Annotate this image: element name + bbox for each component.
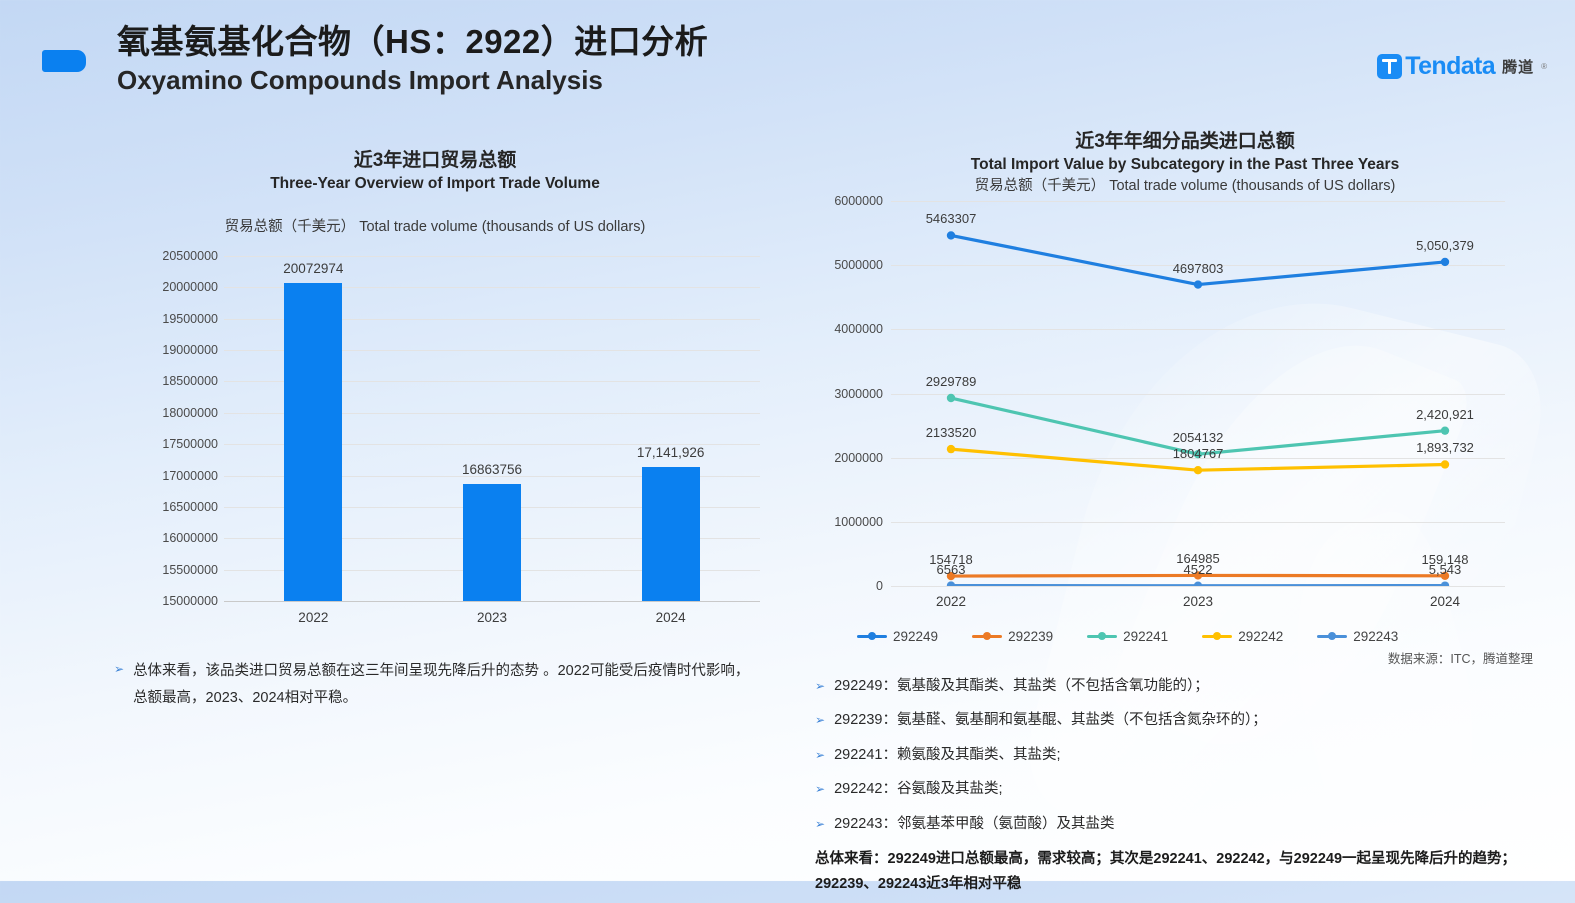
- page-title-cn: 氧基氨基化合物（HS：2922）进口分析: [117, 22, 708, 62]
- bar-y-tick-label: 15500000: [162, 563, 218, 577]
- bar-chart-plot-area: 20072974202216863756202317,141,9262024: [224, 256, 760, 616]
- left-chart-note: ➢ 总体来看，该品类进口贸易总额在这三年间呈现先降后升的态势 。2022可能受后…: [110, 658, 760, 712]
- line-x-tick-label: 2022: [936, 594, 966, 609]
- legend-swatch-icon: [972, 635, 1002, 639]
- line-value-label-292243: 6563: [937, 562, 966, 577]
- line-value-label-292242: 2133520: [926, 425, 977, 440]
- bar-chart: 2050000020000000195000001900000018500000…: [110, 256, 760, 616]
- bullet-item-2: ➢292241：赖氨酸及其酯类、其盐类;: [815, 744, 1555, 767]
- legend-label: 292239: [1008, 629, 1053, 644]
- subcategory-bullet-list: ➢292249：氨基酸及其酯类、其盐类（不包括含氧功能的）；➢292239：氨基…: [815, 675, 1555, 836]
- bullet-arrow-icon: ➢: [815, 709, 825, 732]
- line-value-label-292241: 2,420,921: [1416, 407, 1474, 422]
- bar-y-tick-label: 15000000: [162, 594, 218, 608]
- bullet-item-4: ➢292243：邻氨基苯甲酸（氨茴酸）及其盐类: [815, 813, 1555, 836]
- line-chart: 6000000500000040000003000000200000010000…: [815, 201, 1535, 621]
- line-chart-legend: 292249292239292241292242292243: [857, 629, 1555, 644]
- line-value-label-292242: 1,893,732: [1416, 440, 1474, 455]
- bullet-arrow-icon: ➢: [815, 813, 825, 836]
- left-chart-title-en: Three-Year Overview of Import Trade Volu…: [110, 175, 760, 193]
- line-value-label-292243: 4522: [1184, 562, 1213, 577]
- legend-item-292243[interactable]: 292243: [1317, 629, 1398, 644]
- line-point-292249[interactable]: [1194, 280, 1202, 288]
- bar-y-tick-label: 16000000: [162, 531, 218, 545]
- tendata-t-icon: [1377, 54, 1402, 79]
- bar-chart-y-axis: 2050000020000000195000001900000018500000…: [110, 256, 218, 616]
- line-chart-plot-area: 546330746978035,050,379154718164985159,1…: [891, 201, 1505, 621]
- bullet-item-text: 292242：谷氨酸及其盐类;: [834, 778, 1002, 801]
- line-point-292249[interactable]: [947, 231, 955, 239]
- bullet-item-text: 292249：氨基酸及其酯类、其盐类（不包括含氧功能的）；: [834, 675, 1209, 698]
- legend-label: 292241: [1123, 629, 1168, 644]
- line-point-292249[interactable]: [1441, 258, 1449, 266]
- left-chart-unit-label: 贸易总额（千美元） Total trade volume (thousands …: [110, 215, 760, 236]
- legend-label: 292249: [893, 629, 938, 644]
- page-title-en: Oxyamino Compounds Import Analysis: [117, 64, 708, 97]
- legend-swatch-icon: [1317, 635, 1347, 639]
- line-point-292241[interactable]: [947, 394, 955, 402]
- line-x-tick-label: 2023: [1183, 594, 1213, 609]
- logo-wordmark: Tendata: [1405, 52, 1495, 81]
- bar-gridline: [224, 256, 760, 257]
- line-x-tick-label: 2024: [1430, 594, 1460, 609]
- legend-item-292241[interactable]: 292241: [1087, 629, 1168, 644]
- bullet-item-text: 292241：赖氨酸及其酯类、其盐类;: [834, 744, 1060, 767]
- page-title-group: 氧基氨基化合物（HS：2922）进口分析 Oxyamino Compounds …: [117, 22, 708, 97]
- line-point-292243[interactable]: [947, 581, 955, 586]
- line-value-label-292249: 5463307: [926, 211, 977, 226]
- line-value-label-292241: 2929789: [926, 374, 977, 389]
- bullet-item-text: 292243：邻氨基苯甲酸（氨茴酸）及其盐类: [834, 813, 1114, 836]
- bullet-item-text: 292239：氨基醛、氨基酮和氨基醌、其盐类（不包括含氮杂环的）；: [834, 709, 1267, 732]
- line-series-svg: [891, 201, 1505, 586]
- bullet-arrow-icon: ➢: [114, 658, 124, 712]
- right-chart-title-cn: 近3年年细分品类进口总额: [815, 126, 1555, 153]
- bar-y-tick-label: 19000000: [162, 343, 218, 357]
- bar-y-tick-label: 16500000: [162, 500, 218, 514]
- left-chart-panel: 近3年进口贸易总额 Three-Year Overview of Import …: [110, 145, 760, 712]
- bar-2022[interactable]: [284, 283, 342, 601]
- left-chart-title-cn: 近3年进口贸易总额: [110, 145, 760, 172]
- line-y-tick-label: 1000000: [834, 515, 883, 529]
- legend-swatch-icon: [1202, 635, 1232, 639]
- bar-value-label: 17,141,926: [637, 445, 705, 460]
- line-y-tick-label: 2000000: [834, 451, 883, 465]
- legend-label: 292242: [1238, 629, 1283, 644]
- bar-value-label: 16863756: [462, 462, 522, 477]
- line-point-292242[interactable]: [947, 445, 955, 453]
- bar-y-tick-label: 17000000: [162, 469, 218, 483]
- bar-2024[interactable]: [642, 467, 700, 601]
- line-y-tick-label: 5000000: [834, 258, 883, 272]
- tendata-logo: Tendata 腾道 ®: [1377, 52, 1547, 81]
- line-point-292243[interactable]: [1194, 582, 1202, 586]
- bar-x-tick-label: 2024: [656, 610, 686, 625]
- line-point-292241[interactable]: [1441, 426, 1449, 434]
- line-y-tick-label: 3000000: [834, 387, 883, 401]
- bar-x-tick-label: 2023: [477, 610, 507, 625]
- bullet-arrow-icon: ➢: [815, 675, 825, 698]
- line-y-tick-label: 6000000: [834, 194, 883, 208]
- bar-gridline: [224, 601, 760, 602]
- bullet-item-1: ➢292239：氨基醛、氨基酮和氨基醌、其盐类（不包括含氮杂环的）；: [815, 709, 1555, 732]
- line-value-label-292242: 1804767: [1173, 446, 1224, 461]
- bullet-item-0: ➢292249：氨基酸及其酯类、其盐类（不包括含氧功能的）；: [815, 675, 1555, 698]
- legend-item-292239[interactable]: 292239: [972, 629, 1053, 644]
- bar-y-tick-label: 18000000: [162, 406, 218, 420]
- line-point-292243[interactable]: [1441, 581, 1449, 586]
- right-chart-summary: 总体来看：292249进口总额最高，需求较高；其次是292241、292242，…: [815, 847, 1555, 896]
- left-chart-note-text: 总体来看，该品类进口贸易总额在这三年间呈现先降后升的态势 。2022可能受后疫情…: [133, 658, 760, 712]
- bar-y-tick-label: 19500000: [162, 312, 218, 326]
- bar-2023[interactable]: [463, 484, 521, 601]
- data-source-note: 数据来源：ITC，腾道整理: [815, 648, 1555, 667]
- line-value-label-292243: 5,543: [1429, 562, 1462, 577]
- right-chart-title-en: Total Import Value by Subcategory in the…: [815, 156, 1555, 174]
- legend-item-292242[interactable]: 292242: [1202, 629, 1283, 644]
- line-y-tick-label: 0: [876, 579, 883, 593]
- right-chart-panel: 近3年年细分品类进口总额 Total Import Value by Subca…: [815, 126, 1555, 896]
- logo-registered-icon: ®: [1541, 62, 1547, 71]
- right-chart-unit-label: 贸易总额（千美元） Total trade volume (thousands …: [815, 174, 1555, 195]
- legend-label: 292243: [1353, 629, 1398, 644]
- bar-y-tick-label: 20500000: [162, 249, 218, 263]
- line-point-292242[interactable]: [1194, 466, 1202, 474]
- line-value-label-292241: 2054132: [1173, 430, 1224, 445]
- logo-wordmark-cn: 腾道: [1502, 56, 1534, 77]
- line-chart-y-axis: 6000000500000040000003000000200000010000…: [815, 201, 883, 621]
- bar-y-tick-label: 17500000: [162, 437, 218, 451]
- legend-swatch-icon: [1087, 635, 1117, 639]
- bullet-item-3: ➢292242：谷氨酸及其盐类;: [815, 778, 1555, 801]
- legend-item-292249[interactable]: 292249: [857, 629, 938, 644]
- line-value-label-292249: 4697803: [1173, 261, 1224, 276]
- bullet-arrow-icon: ➢: [815, 778, 825, 801]
- bar-y-tick-label: 20000000: [162, 280, 218, 294]
- bar-x-tick-label: 2022: [298, 610, 328, 625]
- title-accent-bar: [42, 50, 86, 72]
- bar-y-tick-label: 18500000: [162, 374, 218, 388]
- bullet-arrow-icon: ➢: [815, 744, 825, 767]
- legend-swatch-icon: [857, 635, 887, 639]
- line-y-tick-label: 4000000: [834, 322, 883, 336]
- line-gridline: [891, 586, 1505, 587]
- line-point-292242[interactable]: [1441, 460, 1449, 468]
- line-value-label-292249: 5,050,379: [1416, 238, 1474, 253]
- bar-value-label: 20072974: [283, 261, 343, 276]
